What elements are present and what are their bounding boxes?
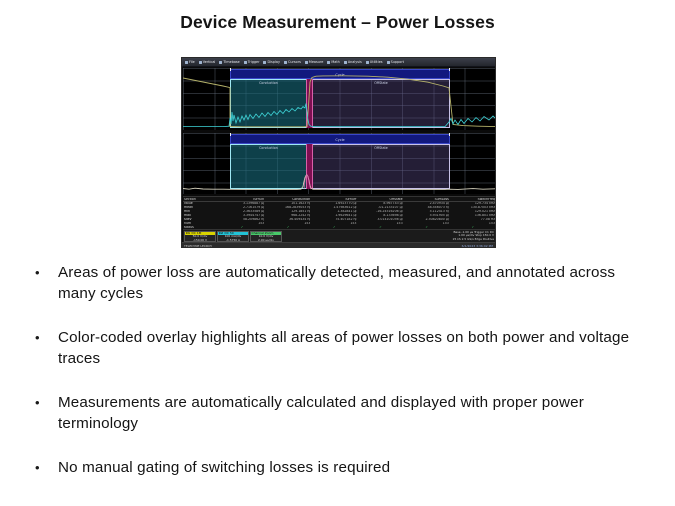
analysis-icon bbox=[344, 61, 347, 64]
list-item: • No manual gating of switching losses i… bbox=[32, 457, 642, 478]
brand-label: TELEDYNE LECROY bbox=[184, 243, 212, 248]
menu-item-label: File bbox=[189, 59, 195, 66]
menu-item-support[interactable]: Support bbox=[385, 59, 406, 66]
cursors-icon bbox=[284, 61, 287, 64]
measurement-table[interactable]: Section TurnOn Conduction TurnOff OffSta… bbox=[183, 196, 496, 229]
menu-item-label: Trigger bbox=[248, 59, 260, 66]
timebase-icon bbox=[219, 61, 222, 64]
list-item: • Color-coded overlay highlights all are… bbox=[32, 327, 642, 369]
trigger-slope: Positive bbox=[483, 237, 494, 241]
descriptor-bar: C1 DC 1M 50.0 V/div -150.00 V C2 DC 50 1… bbox=[183, 229, 496, 243]
menu-item-utilities[interactable]: Utilities bbox=[364, 59, 385, 66]
menu-item-label: Analysis bbox=[348, 59, 362, 66]
power-grid[interactable]: Cycle Conduction OffState bbox=[183, 133, 496, 194]
menu-item-label: Vertical bbox=[203, 59, 216, 66]
bullet-marker: • bbox=[32, 327, 58, 348]
voltage-current-grid[interactable]: Cycle Conduction OffState bbox=[183, 68, 496, 130]
channel-c2-descriptor[interactable]: C2 DC 50 100 mA/div -1.5750 A bbox=[217, 231, 249, 242]
scope-status-bar: TELEDYNE LECROY 6/1/2023 3:36:02 PM bbox=[182, 242, 495, 248]
menu-item-label: Utilities bbox=[370, 59, 383, 66]
menu-item-file[interactable]: File bbox=[183, 59, 197, 66]
timestamp: 6/1/2023 3:36:02 PM bbox=[462, 243, 493, 248]
zoom-math-descriptor[interactable]: Channel Zoom 10.0 V/div 2.00 µs/div bbox=[250, 231, 282, 242]
menu-item-label: Math bbox=[331, 59, 339, 66]
menu-item-timebase[interactable]: Timebase bbox=[217, 59, 241, 66]
bullet-text: Areas of power loss are automatically de… bbox=[58, 262, 642, 304]
page-title: Device Measurement – Power Losses bbox=[0, 12, 675, 33]
math-icon bbox=[327, 61, 330, 64]
menu-item-vertical[interactable]: Vertical bbox=[197, 59, 218, 66]
menu-item-math[interactable]: Math bbox=[325, 59, 341, 66]
menu-item-analysis[interactable]: Analysis bbox=[342, 59, 364, 66]
file-icon bbox=[185, 61, 188, 64]
power-trace bbox=[183, 175, 496, 189]
channel-badge: C1 bbox=[186, 232, 191, 235]
sample-rate: 2.5 GS/s Edge bbox=[462, 237, 482, 241]
menu-item-label: Cursors bbox=[288, 59, 301, 66]
bullet-marker: • bbox=[32, 392, 58, 413]
bullet-text: Measurements are automatically calculate… bbox=[58, 392, 642, 434]
timebase-trigger-info[interactable]: Base -1.00 µs Trigger C1 DC 1.00 µs/div … bbox=[416, 231, 495, 242]
memory-depth: 25 kS bbox=[453, 237, 461, 241]
scope-menu-bar: File Vertical Timebase Trigger Display C… bbox=[182, 58, 495, 67]
menu-item-cursors[interactable]: Cursors bbox=[282, 59, 303, 66]
top-grid-traces bbox=[183, 68, 496, 130]
menu-item-trigger[interactable]: Trigger bbox=[242, 59, 262, 66]
waveform-area: Cycle Conduction OffState bbox=[182, 67, 495, 195]
channel-c1-descriptor[interactable]: C1 DC 1M 50.0 V/div -150.00 V bbox=[184, 231, 216, 242]
bottom-grid-traces bbox=[183, 133, 496, 194]
list-item: • Areas of power loss are automatically … bbox=[32, 262, 642, 304]
bullet-marker: • bbox=[32, 262, 58, 283]
bullet-text: Color-coded overlay highlights all areas… bbox=[58, 327, 642, 369]
list-item: • Measurements are automatically calcula… bbox=[32, 392, 642, 434]
vertical-icon bbox=[199, 61, 202, 64]
menu-item-label: Support bbox=[391, 59, 404, 66]
bullet-text: No manual gating of switching losses is … bbox=[58, 457, 642, 478]
bullet-list: • Areas of power loss are automatically … bbox=[32, 262, 642, 501]
menu-item-label: Measure bbox=[309, 59, 323, 66]
menu-item-label: Timebase bbox=[223, 59, 239, 66]
menu-item-display[interactable]: Display bbox=[261, 59, 282, 66]
menu-item-measure[interactable]: Measure bbox=[303, 59, 325, 66]
menu-item-label: Display bbox=[267, 59, 280, 66]
trigger-icon bbox=[244, 61, 247, 64]
support-icon bbox=[387, 61, 390, 64]
utilities-icon bbox=[366, 61, 369, 64]
channel-badge: C2 bbox=[219, 232, 224, 235]
display-icon bbox=[263, 61, 266, 64]
bullet-marker: • bbox=[32, 457, 58, 478]
measure-icon bbox=[305, 61, 308, 64]
oscilloscope-screenshot: File Vertical Timebase Trigger Display C… bbox=[181, 57, 496, 248]
